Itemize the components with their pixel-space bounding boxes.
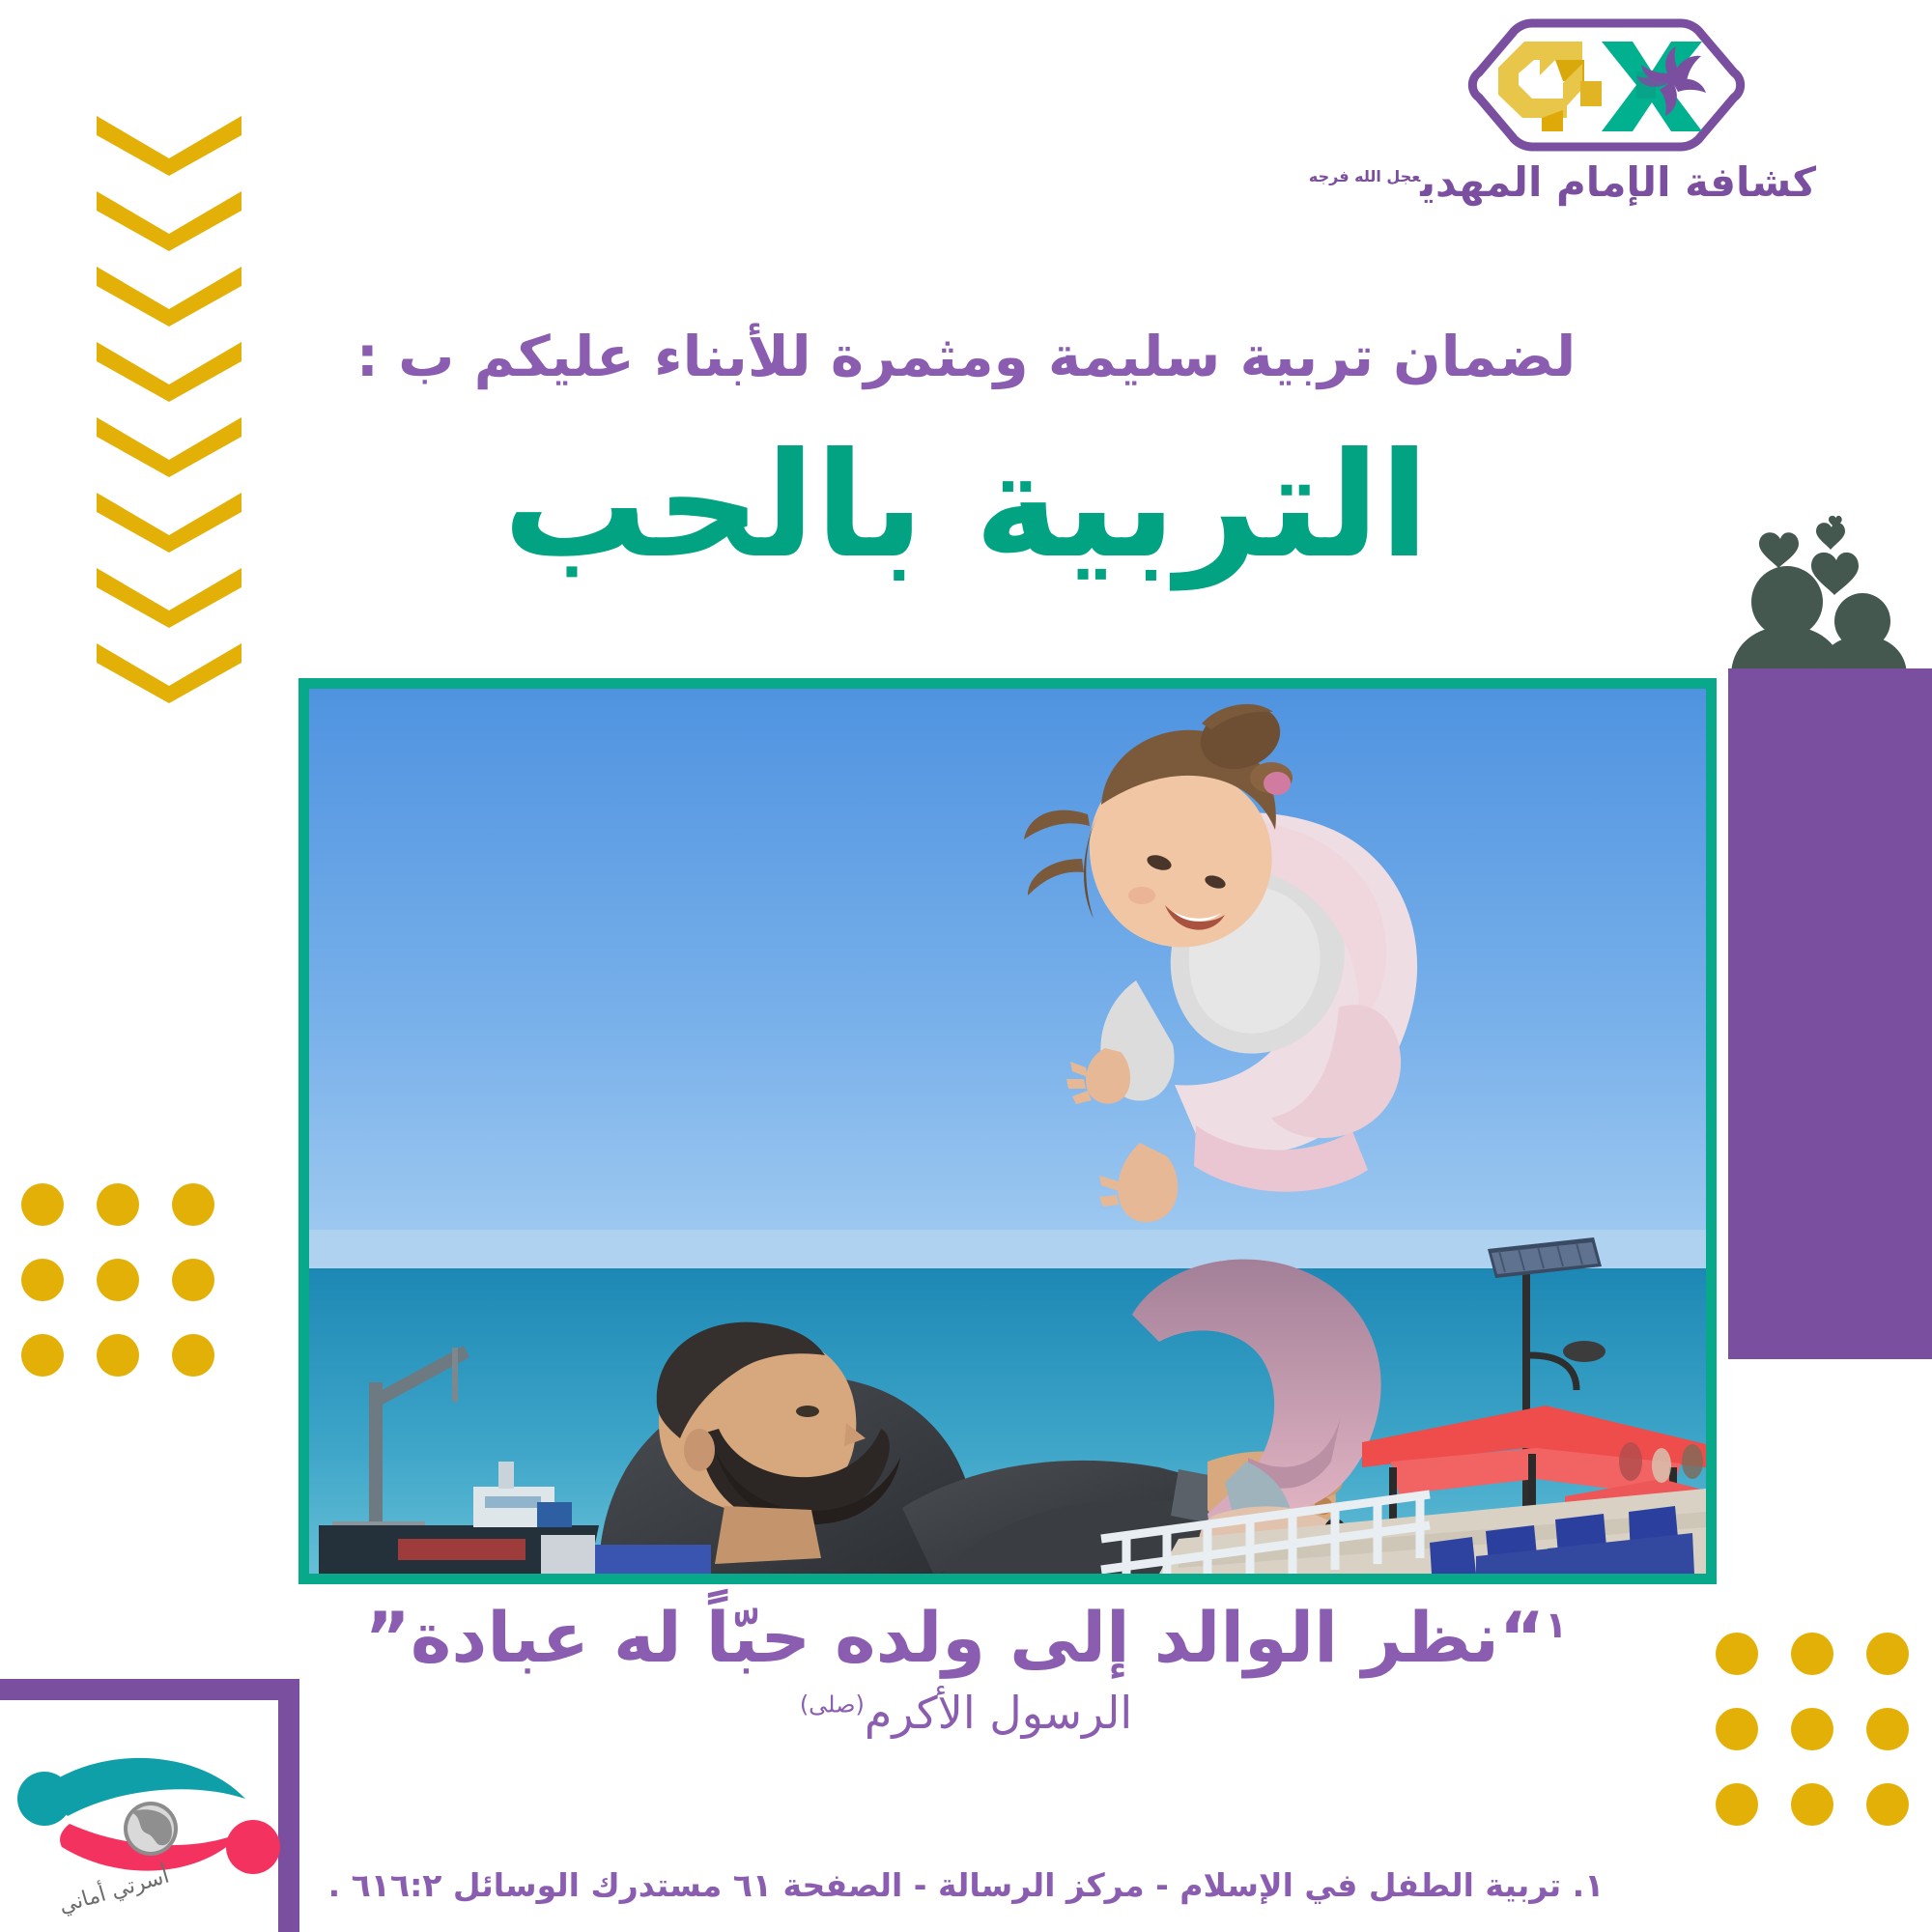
dot xyxy=(21,1259,64,1301)
hero-photo xyxy=(309,689,1706,1574)
family-eye-logo-icon: أسرتي أماني xyxy=(10,1718,290,1925)
page-kicker: لضمان تربية سليمة ومثمرة للأبناء عليكم ب… xyxy=(0,327,1932,388)
dot xyxy=(172,1259,214,1301)
attribution-name: الرسول الأكرم xyxy=(865,1687,1132,1739)
dot-grid-decoration-left xyxy=(21,1183,214,1377)
svg-text:أسرتي أماني: أسرتي أماني xyxy=(56,1861,172,1918)
scouts-hexagon-logo-icon xyxy=(1466,17,1747,153)
page-title: التربية بالحب xyxy=(0,425,1932,587)
chevron-down-icon xyxy=(97,643,241,703)
chevron-down-icon xyxy=(97,191,241,251)
hadith-quote: ١“نظر الوالد إلى ولده حبّاً له عبادة” xyxy=(0,1599,1932,1677)
dot xyxy=(1866,1783,1909,1826)
brand-wordmark: كشافة الإمام المهديعجل الله فرجه xyxy=(1410,162,1816,203)
dot xyxy=(172,1334,214,1377)
chevron-down-icon xyxy=(97,267,241,327)
quote-text: “نظر الوالد إلى ولده حبّاً له عبادة” xyxy=(365,1597,1546,1678)
dot xyxy=(21,1334,64,1377)
brand-logo: كشافة الإمام المهديعجل الله فرجه xyxy=(1466,17,1756,240)
dot xyxy=(1716,1783,1758,1826)
dot xyxy=(21,1183,64,1226)
photo-frame xyxy=(298,678,1717,1584)
family-with-hearts-icon xyxy=(1718,512,1925,676)
dot xyxy=(172,1183,214,1226)
chevron-down-icon xyxy=(97,116,241,176)
purple-accent-bar xyxy=(1728,668,1932,1359)
poster-canvas: كشافة الإمام المهديعجل الله فرجه لضمان ت… xyxy=(0,0,1932,1932)
brand-honorific: عجل الله فرجه xyxy=(1309,167,1420,185)
dot xyxy=(1791,1783,1833,1826)
dot xyxy=(97,1259,139,1301)
dot xyxy=(97,1183,139,1226)
quote-footnote-marker: ١ xyxy=(1545,1604,1567,1646)
dot xyxy=(97,1334,139,1377)
brand-name: كشافة الإمام المهدي xyxy=(1420,158,1816,206)
attribution-honorific: (صلى) xyxy=(800,1691,865,1719)
